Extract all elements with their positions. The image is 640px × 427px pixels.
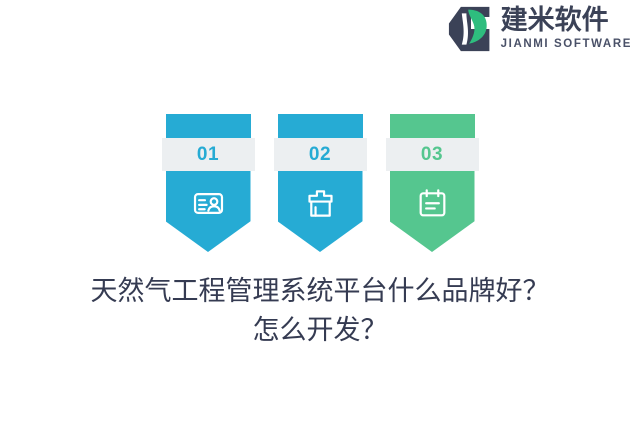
brand-name-en: JIANMI SOFTWARE	[501, 39, 632, 51]
badge-lower-pennant	[390, 171, 475, 252]
headline: 天然气工程管理系统平台什么品牌好？ 怎么开发？	[0, 272, 640, 350]
brand-text-block: 建米软件 JIANMI SOFTWARE	[501, 7, 632, 51]
badge-number: 03	[421, 144, 443, 166]
badge-number: 02	[309, 144, 331, 166]
badge-top-banner	[278, 114, 363, 138]
badge-number-strip: 03	[386, 138, 479, 171]
brand-name-cn: 建米软件	[501, 7, 609, 34]
contact-card-icon	[192, 187, 225, 220]
badge-row: 01 02 03	[0, 114, 640, 252]
brand-logo: 建米软件 JIANMI SOFTWARE	[448, 6, 632, 52]
badge-lower-pennant	[278, 171, 363, 252]
badge-item-01: 01	[162, 114, 255, 252]
badge-top-banner	[390, 114, 475, 138]
badge-item-02: 02	[274, 114, 367, 252]
jianmi-hexagon-leaf-logo-icon	[448, 6, 494, 52]
clipboard-notes-icon	[416, 187, 449, 220]
storefront-icon	[304, 187, 337, 220]
badge-number-strip: 01	[162, 138, 255, 171]
headline-line-2: 怎么开发？	[0, 311, 640, 350]
badge-item-03: 03	[386, 114, 479, 252]
headline-line-1: 天然气工程管理系统平台什么品牌好？	[0, 272, 640, 311]
badge-top-banner	[166, 114, 251, 138]
badge-lower-pennant	[166, 171, 251, 252]
badge-number: 01	[197, 144, 219, 166]
badge-number-strip: 02	[274, 138, 367, 171]
